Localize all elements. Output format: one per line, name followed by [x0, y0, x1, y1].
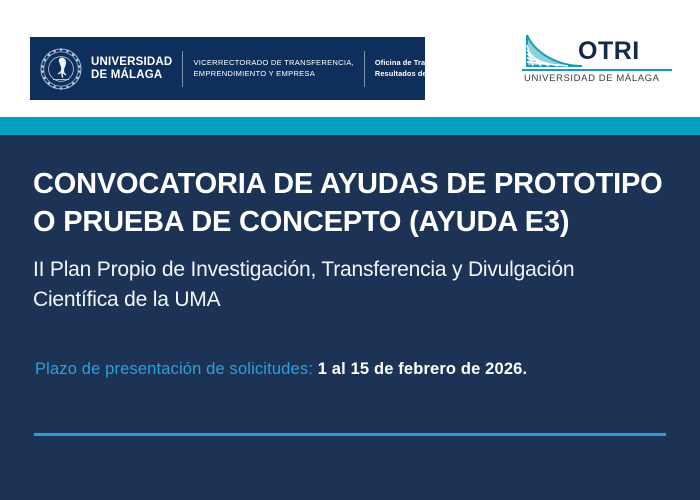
presentation-slide: UNIVERSIDAD DE MÁLAGA VICERRECTORADO DE … [0, 0, 700, 500]
slide-body: CONVOCATORIA DE AYUDAS DE PROTOTIPO O PR… [0, 135, 700, 500]
otri-logo: OTRI UNIVERSIDAD DE MÁLAGA [522, 33, 672, 91]
deadline-label: Plazo de presentación de solicitudes: [35, 360, 313, 378]
deadline-notice: Plazo de presentación de solicitudes: 1 … [35, 358, 527, 380]
otri-underline [522, 69, 672, 71]
page-title-line1: CONVOCATORIA DE AYUDAS DE PROTOTIPO [33, 165, 673, 203]
logo-divider-1 [182, 51, 183, 87]
oficina-line1: Oficina de Transferencia de [375, 58, 478, 69]
vicerrectorado-label: VICERRECTORADO DE TRANSFERENCIA, EMPREND… [193, 58, 353, 79]
deadline-value: 1 al 15 de febrero de 2026. [318, 360, 528, 378]
page-subtitle-line1: II Plan Propio de Investigación, Transfe… [33, 255, 665, 285]
page-title: CONVOCATORIA DE AYUDAS DE PROTOTIPO O PR… [33, 165, 673, 241]
otri-triangle-icon [522, 33, 584, 73]
uma-logo-lockup: UNIVERSIDAD DE MÁLAGA VICERRECTORADO DE … [30, 37, 425, 100]
bottom-divider-rule [34, 433, 666, 436]
page-subtitle-line2: Científica de la UMA [33, 285, 665, 315]
oficina-transferencia-label: Oficina de Transferencia de Resultados d… [375, 58, 478, 79]
page-title-line2: O PRUEBA DE CONCEPTO (AYUDA E3) [33, 203, 673, 241]
oficina-line2: Resultados de Investigación [375, 69, 478, 80]
teal-accent-band [0, 117, 700, 135]
page-subtitle: II Plan Propio de Investigación, Transfe… [33, 255, 665, 315]
otri-wordmark: OTRI [578, 37, 640, 65]
uma-wordmark-line2: DE MÁLAGA [91, 69, 172, 82]
otri-subtitle: UNIVERSIDAD DE MÁLAGA [524, 72, 660, 85]
slide-header: UNIVERSIDAD DE MÁLAGA VICERRECTORADO DE … [0, 0, 700, 117]
vicerrectorado-line2: EMPRENDIMIENTO Y EMPRESA [193, 69, 353, 80]
uma-wordmark: UNIVERSIDAD DE MÁLAGA [91, 56, 172, 82]
uma-wordmark-line1: UNIVERSIDAD [91, 56, 172, 69]
vicerrectorado-line1: VICERRECTORADO DE TRANSFERENCIA, [193, 58, 353, 69]
logo-divider-2 [364, 51, 365, 87]
uma-crest-icon [40, 48, 82, 90]
